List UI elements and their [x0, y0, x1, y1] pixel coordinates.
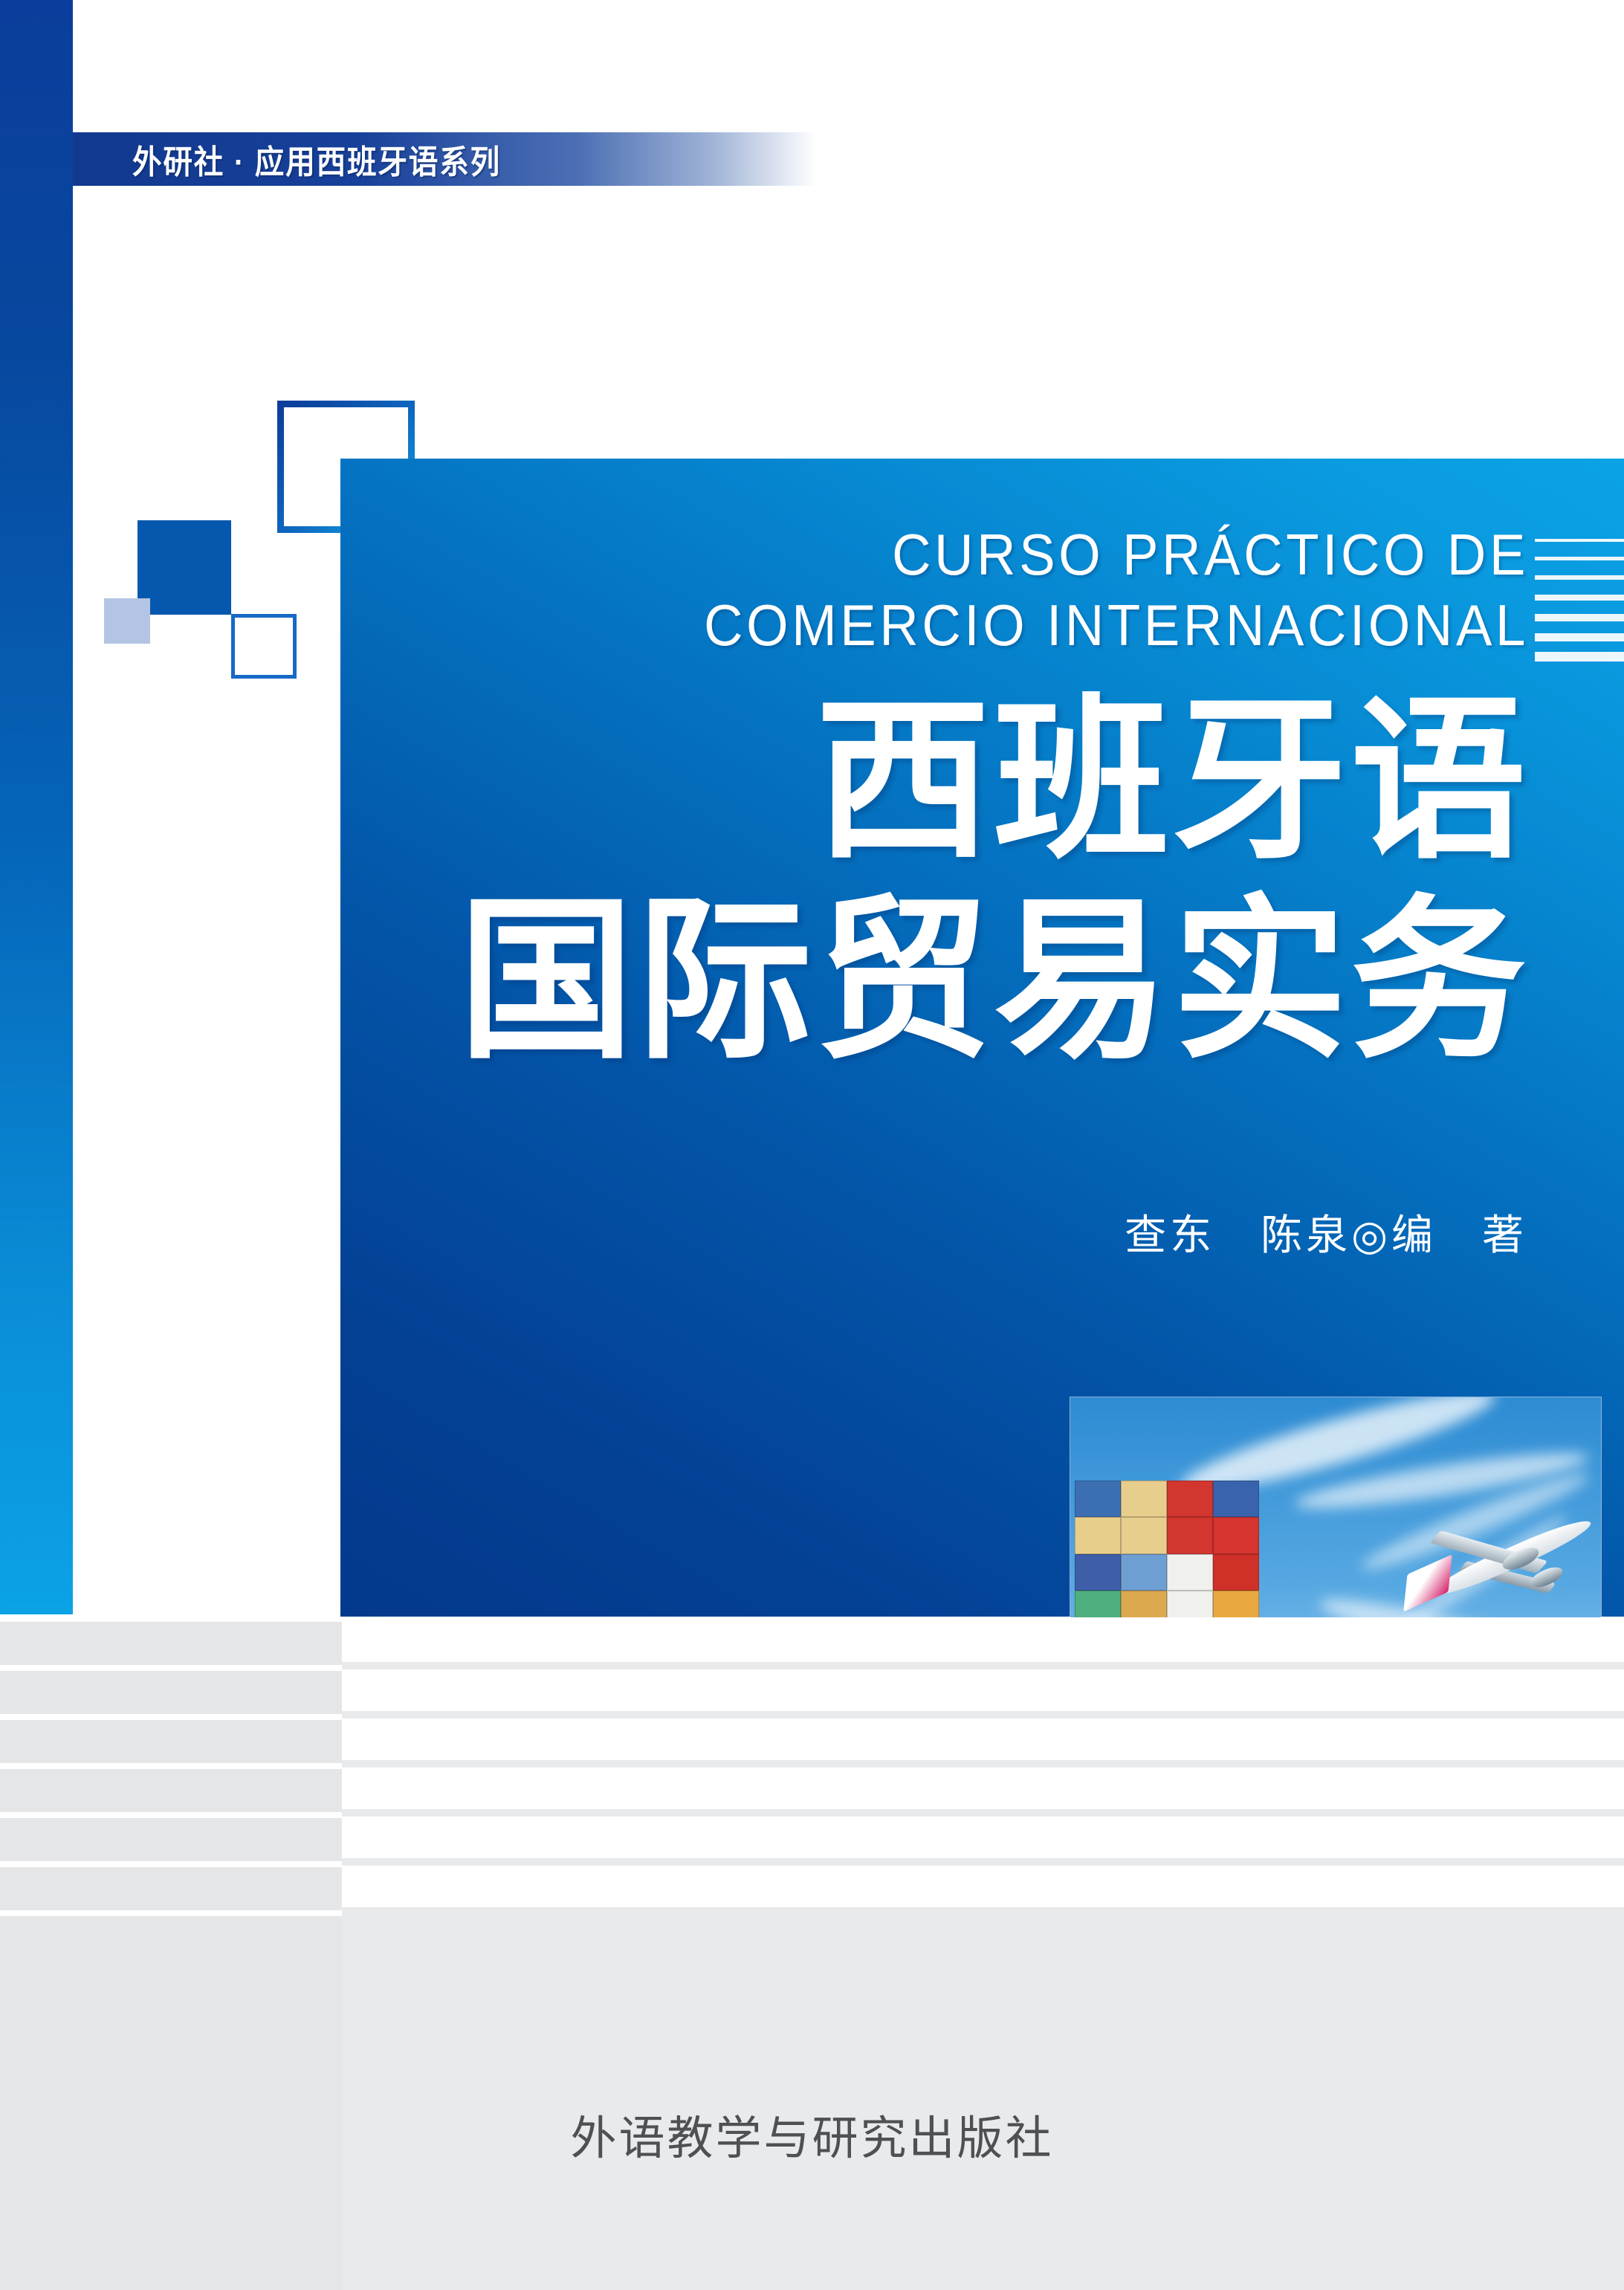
- shipping-container: [1167, 1517, 1213, 1553]
- book-title-line-1: 西班牙语: [459, 682, 1529, 882]
- stripe-band: [342, 1809, 1624, 1817]
- spanish-title: CURSO PRÁCTICO DE COMERCIO INTERNACIONAL: [340, 520, 1529, 661]
- spanish-title-line-2: COMERCIO INTERNACIONAL: [424, 590, 1529, 661]
- stripe-band: [0, 1818, 342, 1861]
- stripe-band: [342, 1907, 1624, 2290]
- book-title: 西班牙语 国际贸易实务: [459, 682, 1529, 1081]
- cargo-airplane: [1390, 1501, 1601, 1620]
- author-credit: 查东 陈泉◎编 著: [1125, 1202, 1527, 1262]
- stripe-band: [342, 1711, 1624, 1718]
- spine-accent-bar: [0, 0, 73, 1614]
- airplane-tail: [1403, 1554, 1452, 1611]
- bottom-stripe-field: [0, 1617, 1624, 2290]
- shipping-container: [1121, 1554, 1167, 1591]
- stripe-line: [1535, 557, 1624, 560]
- shipping-container: [1213, 1481, 1259, 1517]
- decorative-square-outline-small: [231, 614, 297, 679]
- stripe-band: [0, 1720, 342, 1763]
- stripe-line: [1535, 614, 1624, 621]
- spanish-title-line-1: CURSO PRÁCTICO DE: [424, 520, 1529, 590]
- shipping-container: [1167, 1554, 1213, 1591]
- book-cover: 外研社 · 应用西班牙语系列 CURSO PRÁCTICO DE COMERCI…: [0, 0, 1624, 2290]
- stripe-line: [1535, 539, 1624, 542]
- stripe-column-left: [0, 1617, 342, 2290]
- book-title-line-2: 国际贸易实务: [459, 882, 1529, 1081]
- stripe-line: [1535, 595, 1624, 601]
- shipping-container: [1213, 1517, 1259, 1553]
- stripe-decoration: [1535, 539, 1624, 656]
- shipping-container: [1075, 1554, 1121, 1591]
- decorative-square-filled: [138, 520, 231, 615]
- shipping-container: [1121, 1481, 1167, 1517]
- series-banner-label: 外研社 · 应用西班牙语系列: [132, 135, 501, 183]
- stripe-band: [0, 1769, 342, 1812]
- decorative-square-light: [104, 598, 150, 644]
- stripe-line: [1535, 633, 1624, 641]
- stripe-line: [1535, 575, 1624, 580]
- shipping-container: [1075, 1481, 1121, 1517]
- stripe-column-right: [342, 1617, 1624, 2290]
- stripe-band: [0, 1671, 342, 1714]
- shipping-container: [1213, 1554, 1259, 1591]
- stripe-band: [0, 1867, 342, 1910]
- shipping-container: [1121, 1517, 1167, 1553]
- shipping-container: [1075, 1517, 1121, 1553]
- shipping-container: [1167, 1481, 1213, 1517]
- stripe-line: [1535, 652, 1624, 662]
- stripe-band: [342, 1858, 1624, 1866]
- stripe-band: [342, 1662, 1624, 1669]
- stripe-band: [0, 1622, 342, 1665]
- series-banner: 外研社 · 应用西班牙语系列: [73, 132, 816, 186]
- stripe-band: [342, 1760, 1624, 1767]
- publisher-name: 外语教学与研究出版社: [0, 2100, 1624, 2167]
